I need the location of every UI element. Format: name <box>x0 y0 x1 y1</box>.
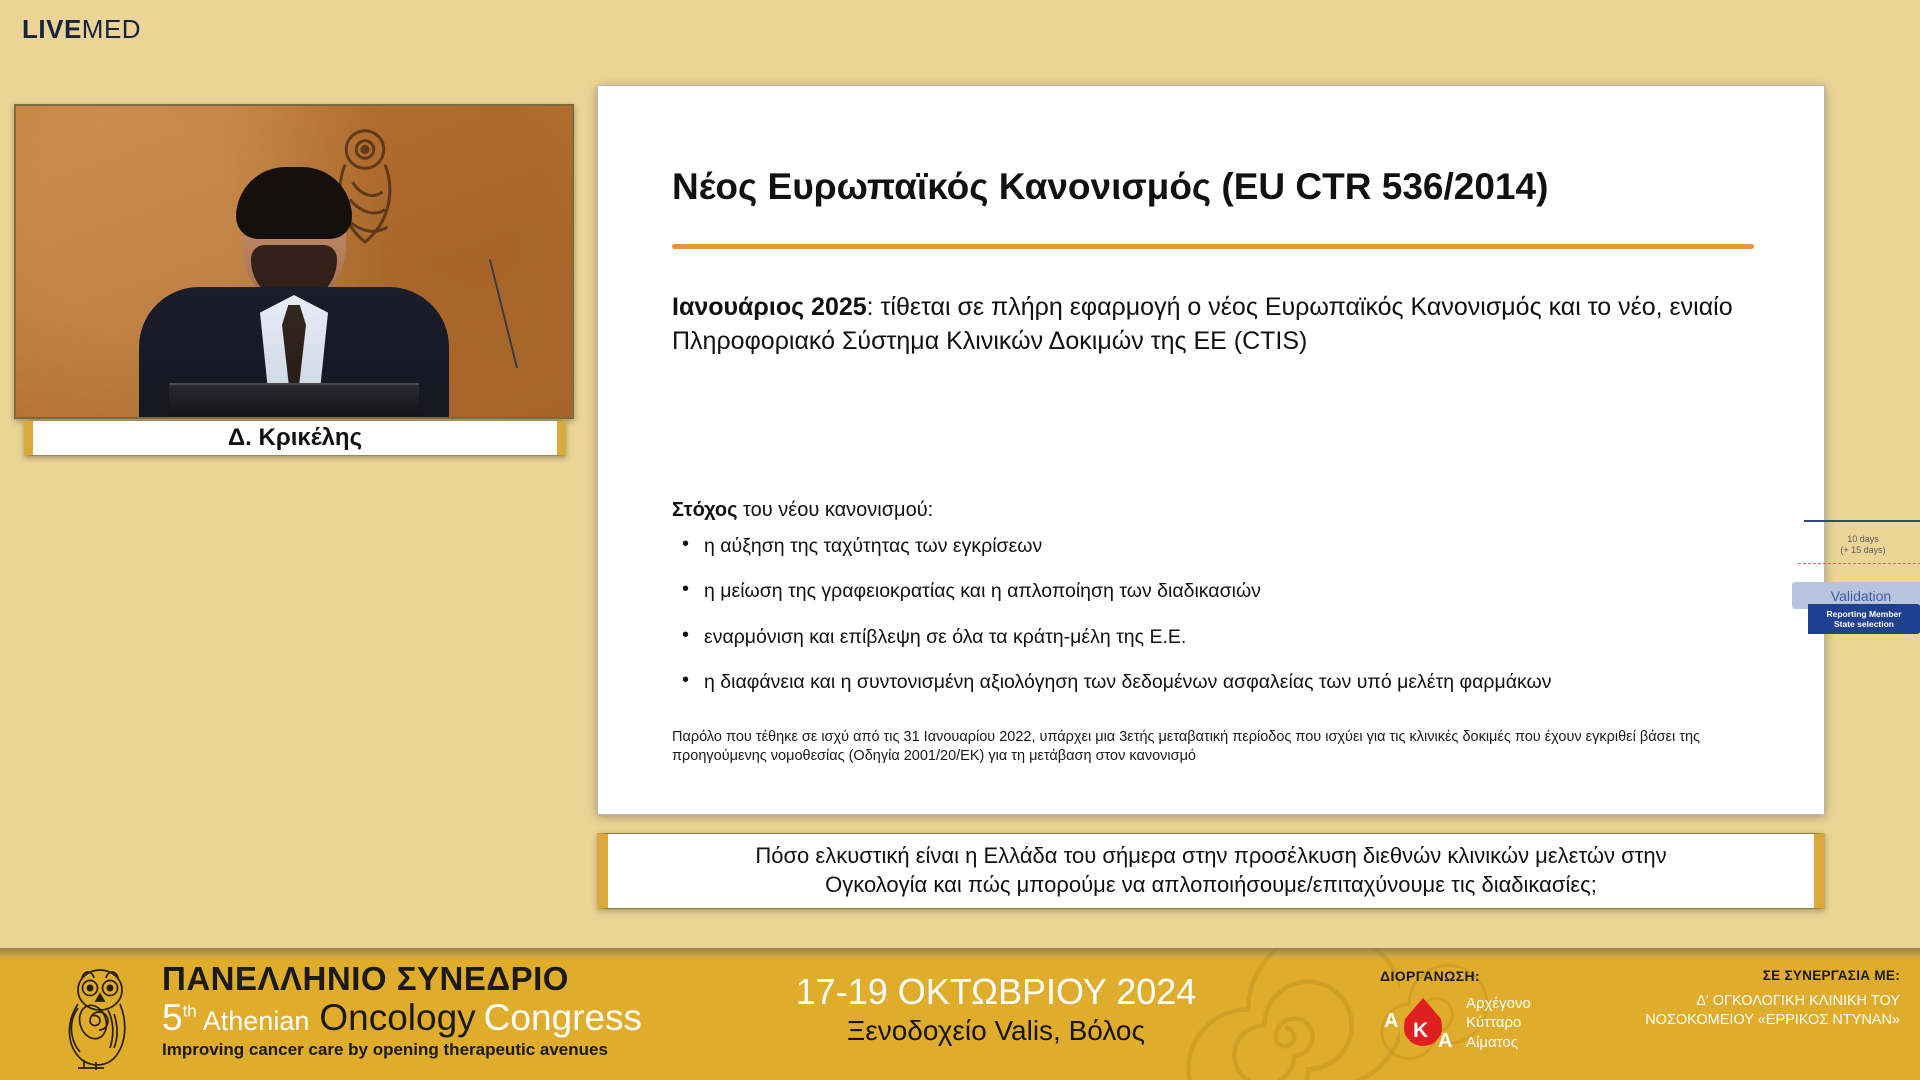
presentation-slide[interactable]: Νέος Ευρωπαϊκός Κανονισμός (EU CTR 536/2… <box>597 85 1825 815</box>
aka-blood-drop-icon: Α Κ Α <box>1380 992 1462 1054</box>
aka-letter-kappa: Κ <box>1413 1019 1428 1043</box>
list-item: η διαφάνεια και η συντονισμένη αξιολόγησ… <box>672 670 1784 694</box>
organizer-label: ΔΙΟΡΓΑΝΩΣΗ: <box>1380 968 1580 984</box>
slide-accent-rule <box>672 244 1754 249</box>
cooperation-label: ΣΕ ΣΥΝΕΡΓΑΣΙΑ ΜΕ: <box>1600 968 1900 983</box>
congress-edition-suffix: th <box>183 1001 197 1020</box>
aka-letter-alpha-2: Α <box>1438 1030 1452 1053</box>
cooperation-name: Δ' ΟΓΚΟΛΟΓΙΚΗ ΚΛΙΝΙΚΗ ΤΟΥ ΝΟΣΟΚΟΜΕΙΟΥ «Ε… <box>1600 992 1900 1030</box>
organizer-name-line1: Αρχέγονο <box>1466 994 1531 1013</box>
list-item: η μείωση της γραφειοκρατίας και η απλοπο… <box>672 579 1784 603</box>
list-item: εναρμόνιση και επίβλεψη σε όλα τα κράτη-… <box>672 625 1784 649</box>
organizer-name-line3: Αίματος <box>1466 1033 1531 1052</box>
slide-bullet-list: η αύξηση της ταχύτητας των εγκρίσεων η μ… <box>672 534 1784 716</box>
congress-english-title: 5thAthenianOncologyCongress <box>162 999 642 1036</box>
organizer-logo-row: Α Κ Α Αρχέγονο Κύτταρο Αίματος <box>1380 992 1580 1054</box>
congress-titles: ΠΑΝΕΛΛΗΝΙΟ ΣΥΝΕΔΡΙΟ 5thAthenianOncologyC… <box>162 962 642 1060</box>
list-item: η αύξηση της ταχύτητας των εγκρίσεων <box>672 534 1784 558</box>
congress-tagline: Improving cancer care by opening therape… <box>162 1040 642 1060</box>
livemed-logo[interactable]: LIVEMED <box>22 16 141 42</box>
slide-lead-paragraph: Ιανουάριος 2025: τίθεται σε πλήρη εφαρμο… <box>672 291 1774 359</box>
slide-goal-rest: του νέου κανονισμού: <box>738 499 934 521</box>
session-title-bar: Πόσο ελκυστική είναι η Ελλάδα του σήμερα… <box>597 833 1825 909</box>
reporting-line2: State selection <box>1834 619 1894 629</box>
timeline-total-days: 106 days <box>1784 494 1920 509</box>
brand-live-text: LIVE <box>22 14 82 44</box>
congress-edition-number: 5th <box>162 997 197 1038</box>
timeline-segment-1-line1: 10 days <box>1808 534 1918 545</box>
slide-lead-bold: Ιανουάριος 2025 <box>672 293 867 321</box>
timeline-top-rule <box>1804 520 1920 522</box>
conference-footer-banner: ΠΑΝΕΛΛΗΝΙΟ ΣΥΝΕΔΡΙΟ 5thAthenianOncologyC… <box>0 948 1920 1080</box>
organizer-name: Αρχέγονο Κύτταρο Αίματος <box>1466 994 1531 1052</box>
congress-venue: Ξενοδοχείο Valis, Βόλος <box>766 1014 1226 1048</box>
timeline-segment-1-label: 10 days (+ 15 days) <box>1808 534 1918 557</box>
cooperation-name-line1: Δ' ΟΓΚΟΛΟΓΙΚΗ ΚΛΙΝΙΚΗ ΤΟΥ <box>1600 992 1900 1011</box>
session-title-line2: Ογκολογία και πώς μπορούμε να απλοποιήσο… <box>825 871 1597 900</box>
organizer-name-line2: Κύτταρο <box>1466 1013 1531 1032</box>
congress-owl-icon <box>48 964 152 1074</box>
speaker-nameplate: Δ. Κρικέλης <box>24 420 566 456</box>
congress-congress-word: Congress <box>484 997 642 1038</box>
reporting-line1: Reporting Member <box>1826 609 1901 619</box>
congress-athenian-word: Athenian <box>203 1006 310 1036</box>
speaker-video-player[interactable]: ΠΑΝΕΛΛΗΝΙΟ Δ <box>14 104 574 419</box>
congress-greek-title: ΠΑΝΕΛΛΗΝΙΟ ΣΥΝΕΔΡΙΟ <box>162 962 642 997</box>
organizer-section: ΔΙΟΡΓΑΝΩΣΗ: Α Κ Α Αρχέγονο Κύτταρο Αίματ… <box>1380 968 1580 1054</box>
timeline-bar-reporting-member-state: Reporting Member State selection <box>1808 604 1920 634</box>
slide-goal-label: Στόχος του νέου κανονισμού: <box>672 499 933 522</box>
speaker-name-text: Δ. Κρικέλης <box>228 424 362 452</box>
ctr-timeline-diagram: 106 days 10 days (+ 15 days) 45 days (+ … <box>1784 494 1920 639</box>
session-title-line1: Πόσο ελκυστική είναι η Ελλάδα του σήμερα… <box>755 842 1666 871</box>
timeline-segment-1-line2: (+ 15 days) <box>1808 545 1918 556</box>
cooperation-name-line2: ΝΟΣΟΚΟΜΕΙΟΥ «ΕΡΡΙΚΟΣ ΝΤΥΝΑΝ» <box>1600 1011 1900 1030</box>
congress-oncology-word: Oncology <box>319 997 475 1038</box>
slide-title: Νέος Ευρωπαϊκός Κανονισμός (EU CTR 536/2… <box>672 166 1774 209</box>
aka-letter-alpha-1: Α <box>1384 1010 1398 1033</box>
timeline-dashed-axis <box>1798 563 1920 564</box>
slide-goal-bold: Στόχος <box>672 499 738 521</box>
speaker-figure <box>129 167 459 417</box>
brand-med-text: MED <box>82 14 141 44</box>
congress-dates: 17-19 ΟΚΤΩΒΡΙΟΥ 2024 <box>766 972 1226 1012</box>
speaker-hair <box>236 167 352 239</box>
slide-footnote: Παρόλο που τέθηκε σε ισχύ από τις 31 Ιαν… <box>672 728 1758 766</box>
podium <box>169 383 419 417</box>
congress-date-venue: 17-19 ΟΚΤΩΒΡΙΟΥ 2024 Ξενοδοχείο Valis, Β… <box>766 972 1226 1047</box>
cooperation-section: ΣΕ ΣΥΝΕΡΓΑΣΙΑ ΜΕ: Δ' ΟΓΚΟΛΟΓΙΚΗ ΚΛΙΝΙΚΗ … <box>1600 968 1900 1030</box>
